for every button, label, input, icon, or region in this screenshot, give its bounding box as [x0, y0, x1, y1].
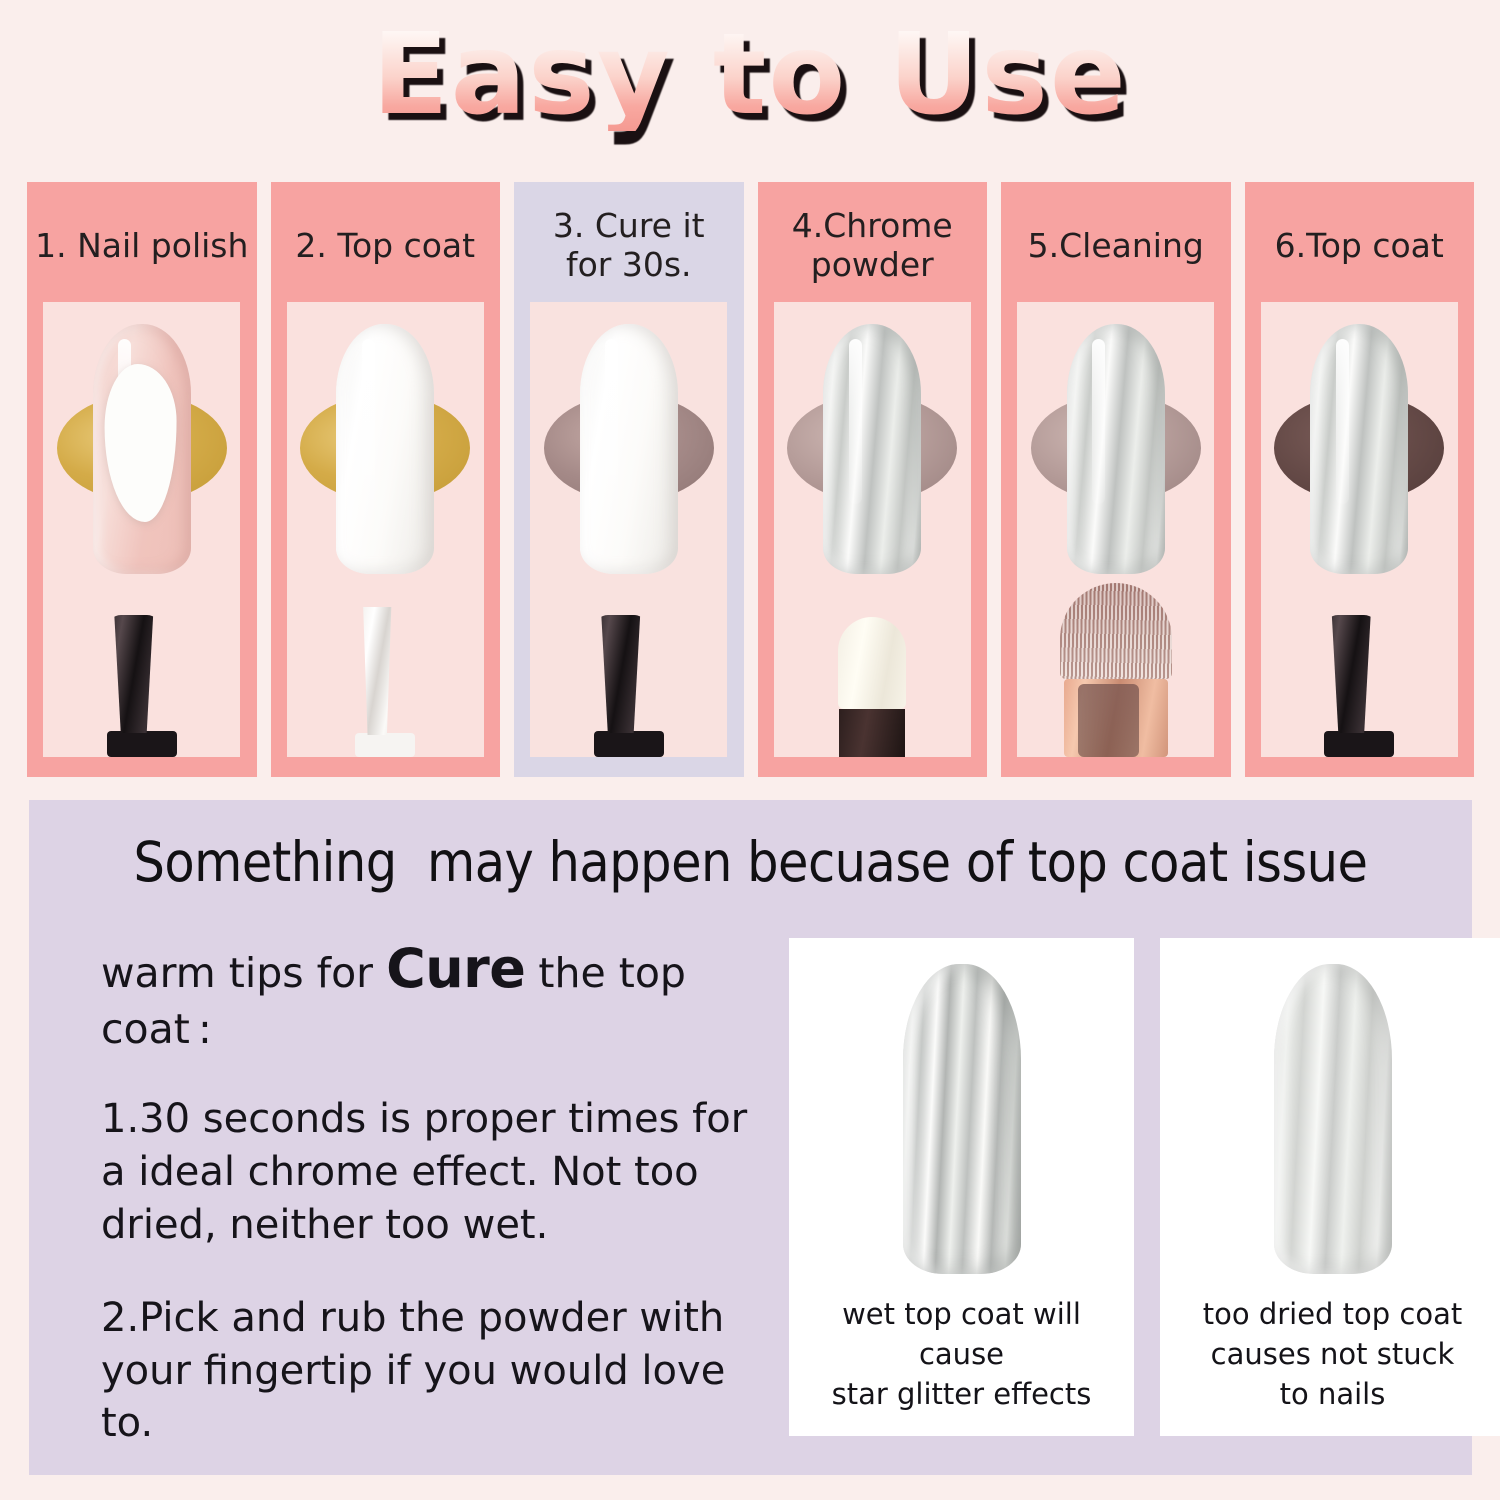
rose-gold-fan-brush-icon — [1060, 583, 1172, 757]
panel-heading: Something may happen becuase of top coat… — [29, 834, 1472, 892]
step-label-2: 2. Top coat — [289, 190, 481, 302]
nail-tip-icon — [580, 324, 678, 574]
step-photo-4 — [774, 302, 971, 757]
chrome-nail-icon — [823, 324, 921, 574]
step-label-6: 6.Top coat — [1269, 190, 1450, 302]
dull-chrome-nail-icon — [1274, 964, 1392, 1274]
chrome-nail-icon — [1310, 324, 1408, 574]
step-label-3: 3. Cure it for 30s. — [547, 190, 711, 302]
step-card-3[interactable]: 3. Cure it for 30s. — [514, 182, 744, 777]
comparison-card-dried[interactable]: too dried top coat causes not stuck to n… — [1160, 938, 1500, 1436]
panel-body: warm tips for Cure the top coat : 1.30 s… — [29, 934, 1472, 1490]
black-polish-brush-icon — [1324, 615, 1394, 757]
comparison-nail-box — [903, 954, 1021, 1284]
step-photo-1 — [43, 302, 240, 757]
step-card-6[interactable]: 6.Top coat — [1245, 182, 1475, 777]
glitter-chrome-nail-icon — [903, 964, 1021, 1274]
nail-gloss-icon — [605, 339, 618, 504]
nail-tip-icon — [336, 324, 434, 574]
comparison-caption-dried: too dried top coat causes not stuck to n… — [1203, 1294, 1463, 1414]
sponge-applicator-icon — [838, 617, 906, 757]
header: Easy to Use Easy to Use — [0, 0, 1500, 150]
step-photo-3 — [530, 302, 727, 757]
step-label-4: 4.Chrome powder — [786, 190, 959, 302]
step-photo-6 — [1261, 302, 1458, 757]
black-polish-brush-icon — [107, 615, 177, 757]
warm-tip-item-2: 2.Pick and rub the powder with your fing… — [101, 1292, 761, 1450]
comparison-nail-box — [1274, 954, 1392, 1284]
chrome-nail-icon — [1067, 324, 1165, 574]
top-coat-issue-panel: Something may happen becuase of top coat… — [29, 800, 1472, 1475]
warm-tip-item-1: 1.30 seconds is proper times for a ideal… — [101, 1093, 761, 1251]
warm-tips-lead-strong: Cure — [386, 937, 525, 1000]
page-title: Easy to Use — [372, 19, 1128, 131]
comparison-card-wet[interactable]: wet top coat will cause star glitter eff… — [789, 938, 1134, 1436]
black-polish-brush-icon — [594, 615, 664, 757]
step-label-1: 1. Nail polish — [29, 190, 254, 302]
step-photo-5 — [1017, 302, 1214, 757]
warm-tips-lead: warm tips for Cure the top coat : — [101, 934, 761, 1056]
steps-row: 1. Nail polish 2. Top coat 3. Cure it fo… — [27, 182, 1474, 777]
nail-gloss-icon — [1092, 339, 1105, 504]
step-photo-2 — [287, 302, 484, 757]
step-label-5: 5.Cleaning — [1022, 190, 1210, 302]
warm-tips-block: warm tips for Cure the top coat : 1.30 s… — [101, 934, 761, 1490]
warm-tips-lead-before: warm tips for — [101, 949, 386, 997]
comparison-cards: wet top coat will cause star glitter eff… — [789, 934, 1500, 1490]
step-card-4[interactable]: 4.Chrome powder — [758, 182, 988, 777]
step-card-1[interactable]: 1. Nail polish — [27, 182, 257, 777]
comparison-caption-wet: wet top coat will cause star glitter eff… — [799, 1294, 1124, 1414]
white-top-coat-brush-icon — [355, 607, 415, 757]
nail-gloss-icon — [1336, 339, 1349, 504]
step-card-5[interactable]: 5.Cleaning — [1001, 182, 1231, 777]
nail-gloss-icon — [849, 339, 862, 504]
nail-gloss-icon — [362, 339, 375, 504]
step-card-2[interactable]: 2. Top coat — [271, 182, 501, 777]
